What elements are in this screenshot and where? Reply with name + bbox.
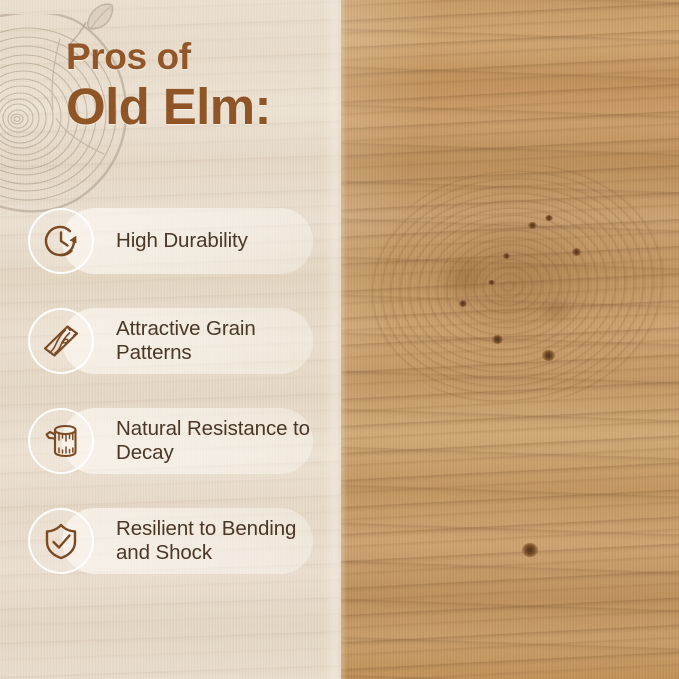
page-title: Pros of Old Elm: [66, 38, 336, 134]
title-line-2: Old Elm: [66, 80, 336, 134]
list-item[interactable]: Natural Resistance to Decay [0, 400, 341, 482]
wood-highlight [340, 0, 679, 679]
list-item[interactable]: Attractive Grain Patterns [0, 300, 341, 382]
list-item[interactable]: High Durability [0, 200, 341, 282]
feature-label: Natural Resistance to Decay [116, 417, 316, 465]
feature-list: High Durability Attractive Grain Pattern… [0, 200, 341, 600]
infographic-poster: Pros of Old Elm: High Durability [0, 0, 679, 679]
wood-plank-icon [28, 308, 94, 374]
clock-history-icon [28, 208, 94, 274]
list-item[interactable]: Resilient to Bending and Shock [0, 500, 341, 582]
feature-label: Attractive Grain Patterns [116, 317, 316, 365]
feature-label: Resilient to Bending and Shock [116, 517, 316, 565]
wood-grain-photo [340, 0, 679, 679]
feature-label: High Durability [116, 229, 248, 253]
shield-check-icon [28, 508, 94, 574]
log-stump-icon [28, 408, 94, 474]
title-line-1: Pros of [66, 38, 336, 75]
